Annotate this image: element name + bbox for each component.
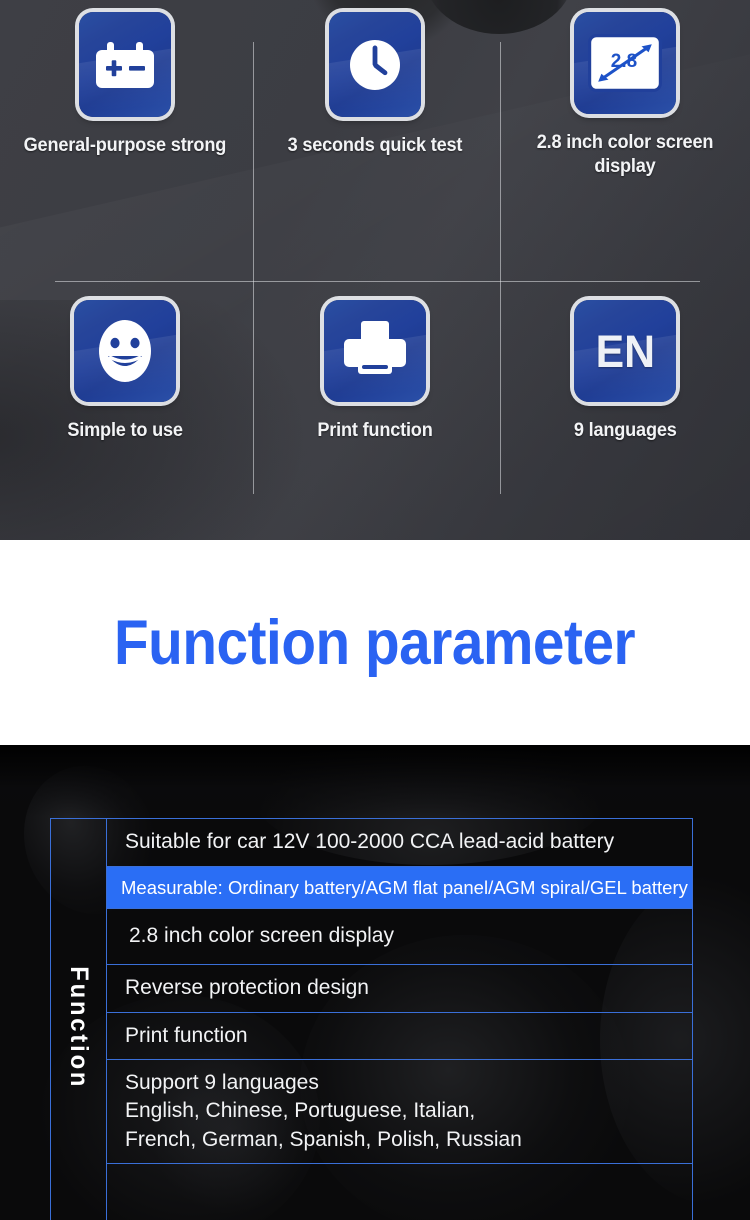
screen-size-icon-tile: 2.8 (574, 12, 676, 114)
feature-label: Simple to use (67, 419, 182, 443)
table-cell: 2.8 inch color screen display (107, 909, 693, 965)
section-title-band: Function parameter (0, 540, 750, 745)
battery-icon-tile (79, 12, 171, 117)
table-cell: Support 9 languages English, Chinese, Po… (107, 1060, 693, 1164)
table-cell-highlighted: Measurable: Ordinary battery/AGM flat pa… (107, 867, 693, 909)
feature-item-screen-display: 2.8 2.8 inch color screen display (500, 0, 750, 282)
feature-label: 3 seconds quick test (288, 134, 463, 158)
table-row (51, 1164, 693, 1220)
table-row: Reverse protection design (51, 965, 693, 1013)
smiley-face-icon-tile (74, 300, 176, 402)
table-cell: Reverse protection design (107, 965, 693, 1013)
clock-icon (346, 36, 404, 94)
feature-grid: General-purpose strong 3 seconds quick t… (0, 0, 750, 540)
feature-label: 2.8 inch color screen display (509, 131, 742, 179)
table-cell: Suitable for car 12V 100-2000 CCA lead-a… (107, 819, 693, 867)
table-row: Print function (51, 1012, 693, 1060)
battery-icon (96, 42, 154, 88)
feature-item-print-function: Print function (250, 282, 500, 494)
feature-item-quick-test: 3 seconds quick test (250, 0, 500, 282)
spec-table: Function Suitable for car 12V 100-2000 C… (50, 818, 693, 1220)
feature-label: Print function (317, 419, 432, 443)
screen-size-value: 2.8 (611, 51, 637, 72)
feature-item-languages: EN 9 languages (500, 282, 750, 494)
page-title: Function parameter (114, 607, 635, 679)
screen-size-icon: 2.8 (588, 34, 662, 92)
feature-item-general-purpose: General-purpose strong (0, 0, 250, 282)
table-row: Support 9 languages English, Chinese, Po… (51, 1060, 693, 1164)
clock-icon-tile (329, 12, 421, 117)
function-vertical-label: Function (66, 966, 91, 1089)
printer-icon-tile (324, 300, 426, 402)
smiley-face-icon (94, 316, 156, 386)
table-row-header-function: Function (51, 819, 107, 1220)
spec-section: Function Suitable for car 12V 100-2000 C… (0, 745, 750, 1220)
table-cell-empty (107, 1164, 693, 1220)
printer-icon (342, 320, 408, 382)
background-top-shade (0, 745, 750, 817)
language-en-icon-tile: EN (574, 300, 676, 402)
table-row: Function Suitable for car 12V 100-2000 C… (51, 819, 693, 867)
feature-label: 9 languages (574, 419, 677, 443)
table-row: Measurable: Ordinary battery/AGM flat pa… (51, 867, 693, 909)
table-row: 2.8 inch color screen display (51, 909, 693, 965)
feature-item-simple-to-use: Simple to use (0, 282, 250, 494)
feature-label: General-purpose strong (24, 134, 226, 158)
table-cell: Print function (107, 1012, 693, 1060)
features-section: General-purpose strong 3 seconds quick t… (0, 0, 750, 540)
language-en-icon: EN (595, 329, 654, 374)
